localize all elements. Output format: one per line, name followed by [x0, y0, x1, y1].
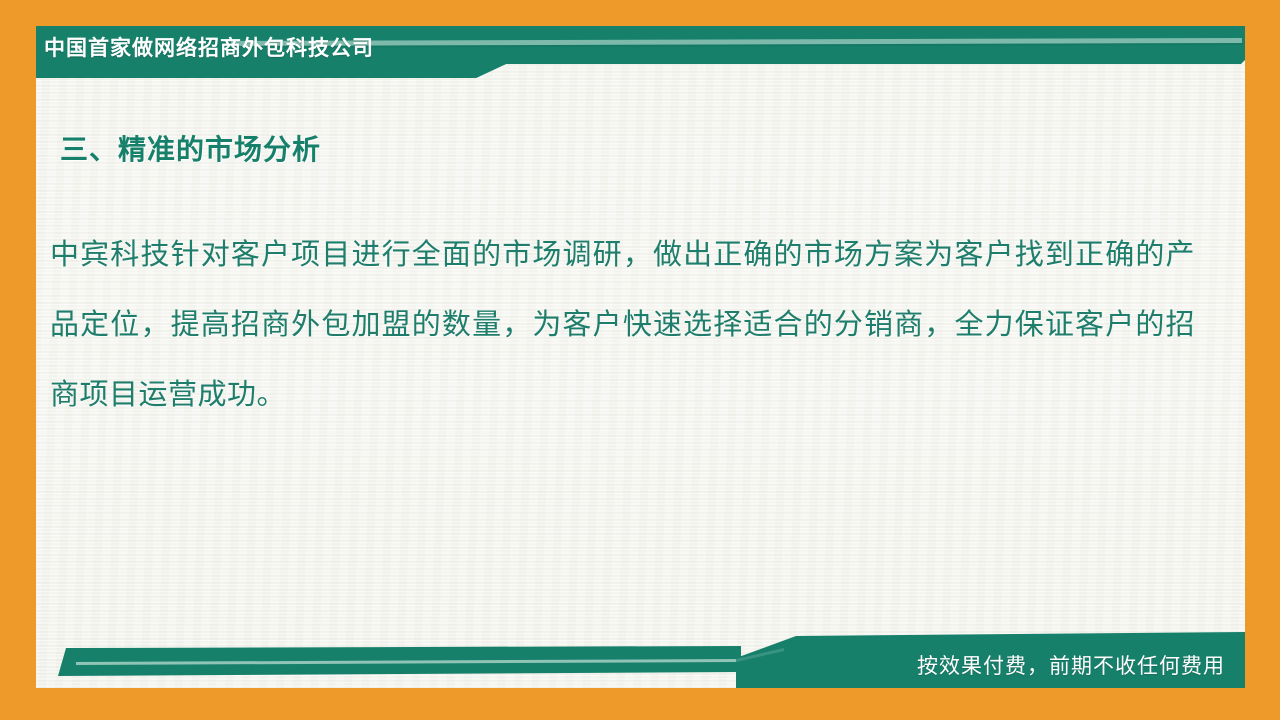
slide-root: 中国首家做网络招商外包科技公司 三、精准的市场分析 中宾科技针对客户项目进行全面…: [0, 0, 1280, 720]
frame-top-orange: [0, 0, 1280, 26]
body-paragraph: 中宾科技针对客户项目进行全面的市场调研，做出正确的市场方案为客户找到正确的产品定…: [50, 220, 1195, 430]
frame-right-orange: [1245, 0, 1280, 720]
slide-header-band: 中国首家做网络招商外包科技公司: [36, 26, 1245, 82]
frame-left-orange: [0, 0, 36, 720]
company-tagline: 中国首家做网络招商外包科技公司: [44, 31, 564, 67]
body-paragraph-block: 中宾科技针对客户项目进行全面的市场调研，做出正确的市场方案为客户找到正确的产品定…: [50, 220, 1195, 430]
frame-bottom-orange: [0, 688, 1280, 720]
slide-footer-band: 按效果付费，前期不收任何费用: [36, 626, 1245, 688]
slide-content: 三、精准的市场分析 中宾科技针对客户项目进行全面的市场调研，做出正确的市场方案为…: [36, 90, 1245, 630]
footer-slogan: 按效果付费，前期不收任何费用: [917, 650, 1225, 680]
page-title: 三、精准的市场分析: [60, 128, 321, 168]
